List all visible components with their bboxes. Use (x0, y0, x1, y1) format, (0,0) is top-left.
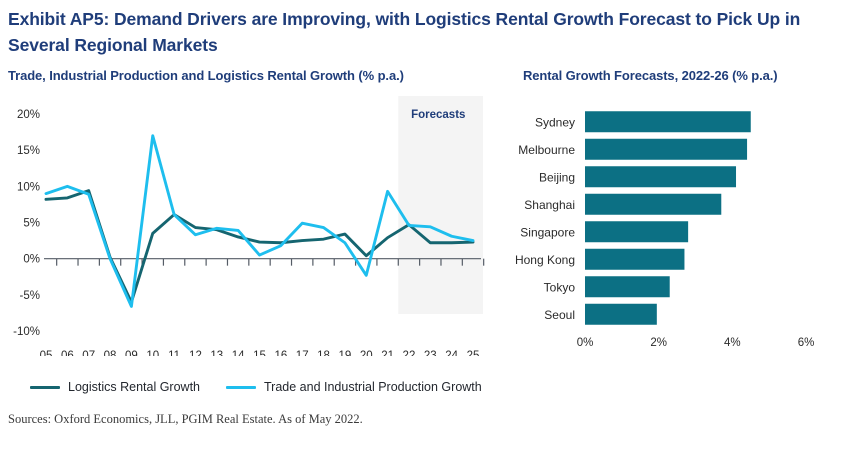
bar-seoul (585, 304, 657, 325)
x-axis-tick-label: 07 (82, 350, 95, 356)
page-title: Exhibit AP5: Demand Drivers are Improvin… (8, 6, 808, 58)
y-axis-tick-label: 10% (17, 181, 40, 193)
x-axis-tick-label: 14 (232, 350, 245, 356)
x-axis-tick-label: 17 (296, 350, 309, 356)
y-axis-tick-label: 5% (23, 218, 40, 230)
x-axis-tick-label: 21 (381, 350, 394, 356)
bar-category-label: Singapore (520, 225, 575, 239)
line-chart-svg: Forecasts-10%-5%0%5%10%15%20%05060708091… (0, 96, 500, 356)
legend: Logistics Rental GrowthTrade and Industr… (30, 380, 482, 394)
x-axis-tick-label: 09 (125, 350, 138, 356)
x-axis-tick-label: 05 (40, 350, 53, 356)
bar-x-axis-tick-label: 2% (650, 337, 667, 349)
x-axis-tick-label: 10 (146, 350, 159, 356)
x-axis-tick-label: 06 (61, 350, 74, 356)
x-axis-tick-label: 23 (424, 350, 437, 356)
bar-category-label: Seoul (544, 308, 575, 322)
bar-x-axis-tick-label: 6% (798, 337, 815, 349)
bar-category-label: Melbourne (518, 143, 575, 157)
bar-chart: SydneyMelbourneBeijingShanghaiSingaporeH… (500, 96, 842, 356)
legend-label: Logistics Rental Growth (68, 380, 200, 394)
legend-item: Trade and Industrial Production Growth (226, 380, 482, 394)
source-note: Sources: Oxford Economics, JLL, PGIM Rea… (8, 412, 363, 427)
x-axis-tick-label: 13 (210, 350, 223, 356)
legend-swatch-icon (30, 386, 60, 389)
legend-item: Logistics Rental Growth (30, 380, 200, 394)
bar-x-axis-tick-label: 4% (724, 337, 741, 349)
bar-hong-kong (585, 249, 684, 270)
y-axis-tick-label: -10% (13, 326, 40, 338)
legend-label: Trade and Industrial Production Growth (264, 380, 482, 394)
x-axis-tick-label: 12 (189, 350, 202, 356)
bar-sydney (585, 111, 751, 132)
x-axis-tick-label: 16 (274, 350, 287, 356)
x-axis-tick-label: 24 (445, 350, 458, 356)
bar-melbourne (585, 139, 747, 160)
bar-singapore (585, 221, 688, 242)
bar-category-label: Beijing (539, 170, 575, 184)
y-axis-tick-label: -5% (20, 290, 40, 302)
y-axis-tick-label: 0% (23, 254, 40, 266)
y-axis-tick-label: 15% (17, 145, 40, 157)
x-axis-tick-label: 19 (339, 350, 352, 356)
forecast-band (398, 96, 483, 314)
bar-chart-subtitle: Rental Growth Forecasts, 2022-26 (% p.a.… (523, 68, 778, 83)
bar-chart-svg: SydneyMelbourneBeijingShanghaiSingaporeH… (500, 96, 842, 356)
bar-category-label: Tokyo (544, 280, 576, 294)
bar-x-axis-tick-label: 0% (577, 337, 594, 349)
line-chart-subtitle: Trade, Industrial Production and Logisti… (8, 68, 404, 83)
x-axis-tick-label: 08 (104, 350, 117, 356)
bar-beijing (585, 166, 736, 187)
forecast-band-label: Forecasts (411, 109, 465, 121)
x-axis-tick-label: 25 (467, 350, 480, 356)
x-axis-tick-label: 15 (253, 350, 266, 356)
bar-shanghai (585, 194, 721, 215)
x-axis-tick-label: 20 (360, 350, 373, 356)
x-axis-tick-label: 18 (317, 350, 330, 356)
x-axis-tick-label: 22 (403, 350, 416, 356)
bar-tokyo (585, 276, 670, 297)
legend-swatch-icon (226, 386, 256, 389)
line-chart: Forecasts-10%-5%0%5%10%15%20%05060708091… (0, 96, 500, 356)
bar-category-label: Sydney (535, 115, 575, 129)
bar-category-label: Shanghai (524, 198, 575, 212)
x-axis-tick-label: 11 (168, 350, 180, 356)
bar-category-label: Hong Kong (515, 253, 575, 267)
y-axis-tick-label: 20% (17, 109, 40, 121)
